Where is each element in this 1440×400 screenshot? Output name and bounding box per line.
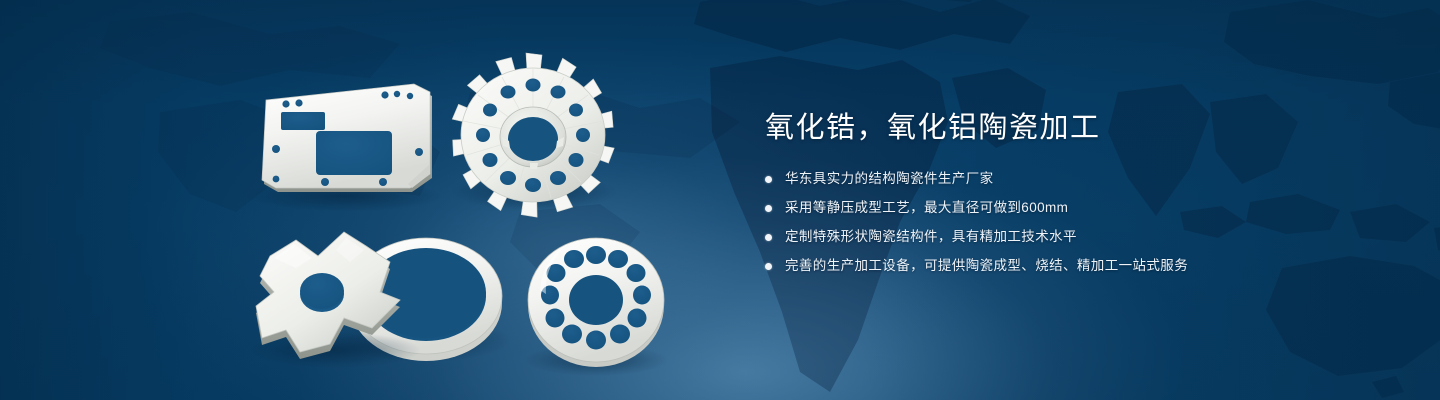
part-ceramic-impeller <box>450 53 618 217</box>
bullet-dot-icon <box>765 234 772 241</box>
part-ceramic-perforated-disc <box>524 238 668 376</box>
feature-list: 华东具实力的结构陶瓷件生产厂家 采用等静压成型工艺，最大直径可做到600mm 定… <box>765 170 1395 275</box>
list-item-label: 华东具实力的结构陶瓷件生产厂家 <box>785 170 994 188</box>
list-item: 完善的生产加工设备，可提供陶瓷成型、烧结、精加工一站式服务 <box>765 257 1395 275</box>
part-ceramic-plate <box>245 84 445 212</box>
bullet-dot-icon <box>765 176 772 183</box>
list-item-label: 完善的生产加工设备，可提供陶瓷成型、烧结、精加工一站式服务 <box>785 257 1188 275</box>
bullet-dot-icon <box>765 263 772 270</box>
list-item-label: 定制特殊形状陶瓷结构件，具有精加工技术水平 <box>785 228 1077 246</box>
list-item: 定制特殊形状陶瓷结构件，具有精加工技术水平 <box>765 228 1395 246</box>
hero-banner: 氧化锆，氧化铝陶瓷加工 华东具实力的结构陶瓷件生产厂家 采用等静压成型工艺，最大… <box>0 0 1440 400</box>
list-item: 华东具实力的结构陶瓷件生产厂家 <box>765 170 1395 188</box>
list-item-label: 采用等静压成型工艺，最大直径可做到600mm <box>785 199 1068 217</box>
banner-text-column: 氧化锆，氧化铝陶瓷加工 华东具实力的结构陶瓷件生产厂家 采用等静压成型工艺，最大… <box>765 108 1395 275</box>
list-item: 采用等静压成型工艺，最大直径可做到600mm <box>765 199 1395 217</box>
ceramic-parts-image <box>0 0 720 400</box>
bullet-dot-icon <box>765 205 772 212</box>
page-title: 氧化锆，氧化铝陶瓷加工 <box>765 108 1395 148</box>
